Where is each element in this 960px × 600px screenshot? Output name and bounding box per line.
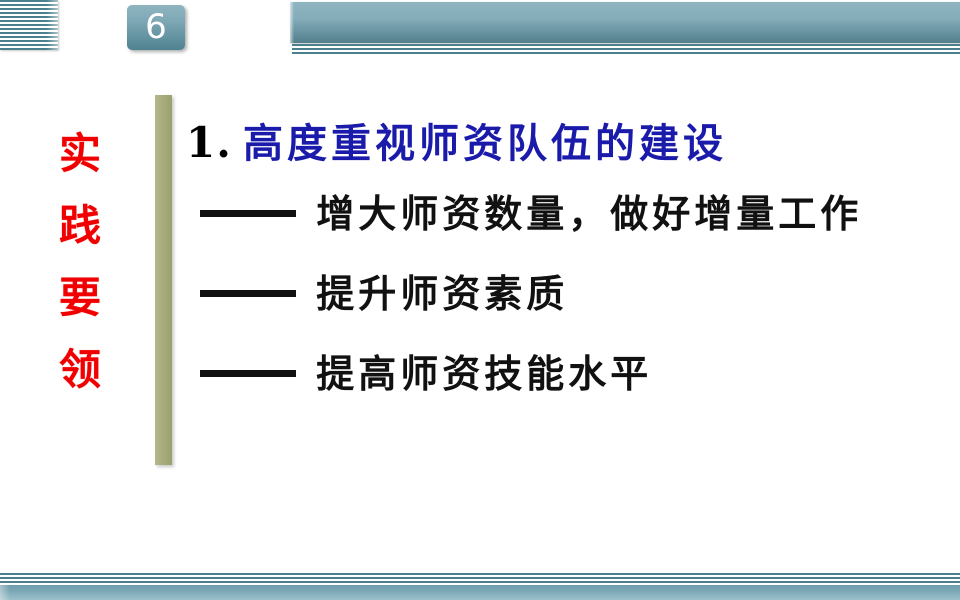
presentation-slide: 6 实 践 要 领 1. 高度重视师资队伍的建设 增大师资数量，做好增量工作 提… — [0, 0, 960, 600]
em-dash-icon — [200, 290, 296, 297]
footer-stripe-block — [0, 573, 960, 585]
slide-number-text: 6 — [145, 10, 167, 44]
slide-content: 1. 高度重视师资队伍的建设 增大师资数量，做好增量工作 提升师资素质 提高师资… — [186, 112, 956, 414]
bullet-item: 提升师资素质 — [186, 254, 956, 334]
vertical-divider-bar — [155, 95, 172, 465]
bullet-text: 增大师资数量，做好增量工作 — [316, 192, 862, 236]
side-label-char: 践 — [59, 190, 101, 262]
slide-number-badge: 6 — [127, 5, 185, 50]
em-dash-icon — [200, 370, 296, 377]
heading-title: 高度重视师资队伍的建设 — [243, 121, 727, 167]
footer-bar — [0, 585, 960, 600]
header-stripe-block-left — [0, 0, 58, 50]
bullet-text: 提升师资素质 — [316, 272, 568, 316]
side-label-char: 实 — [59, 118, 101, 190]
slide-heading: 1. 高度重视师资队伍的建设 — [186, 112, 956, 174]
bullet-text: 提高师资技能水平 — [316, 352, 652, 396]
bullet-item: 提高师资技能水平 — [186, 334, 956, 414]
heading-number: 1. — [186, 118, 232, 167]
header-bar-right — [290, 2, 960, 43]
side-label-vertical: 实 践 要 领 — [49, 118, 111, 406]
bullet-item: 增大师资数量，做好增量工作 — [186, 174, 956, 254]
side-label-char: 领 — [59, 334, 101, 406]
header-stripe-block-right — [292, 44, 960, 56]
em-dash-icon — [200, 210, 296, 217]
side-label-char: 要 — [59, 262, 101, 334]
